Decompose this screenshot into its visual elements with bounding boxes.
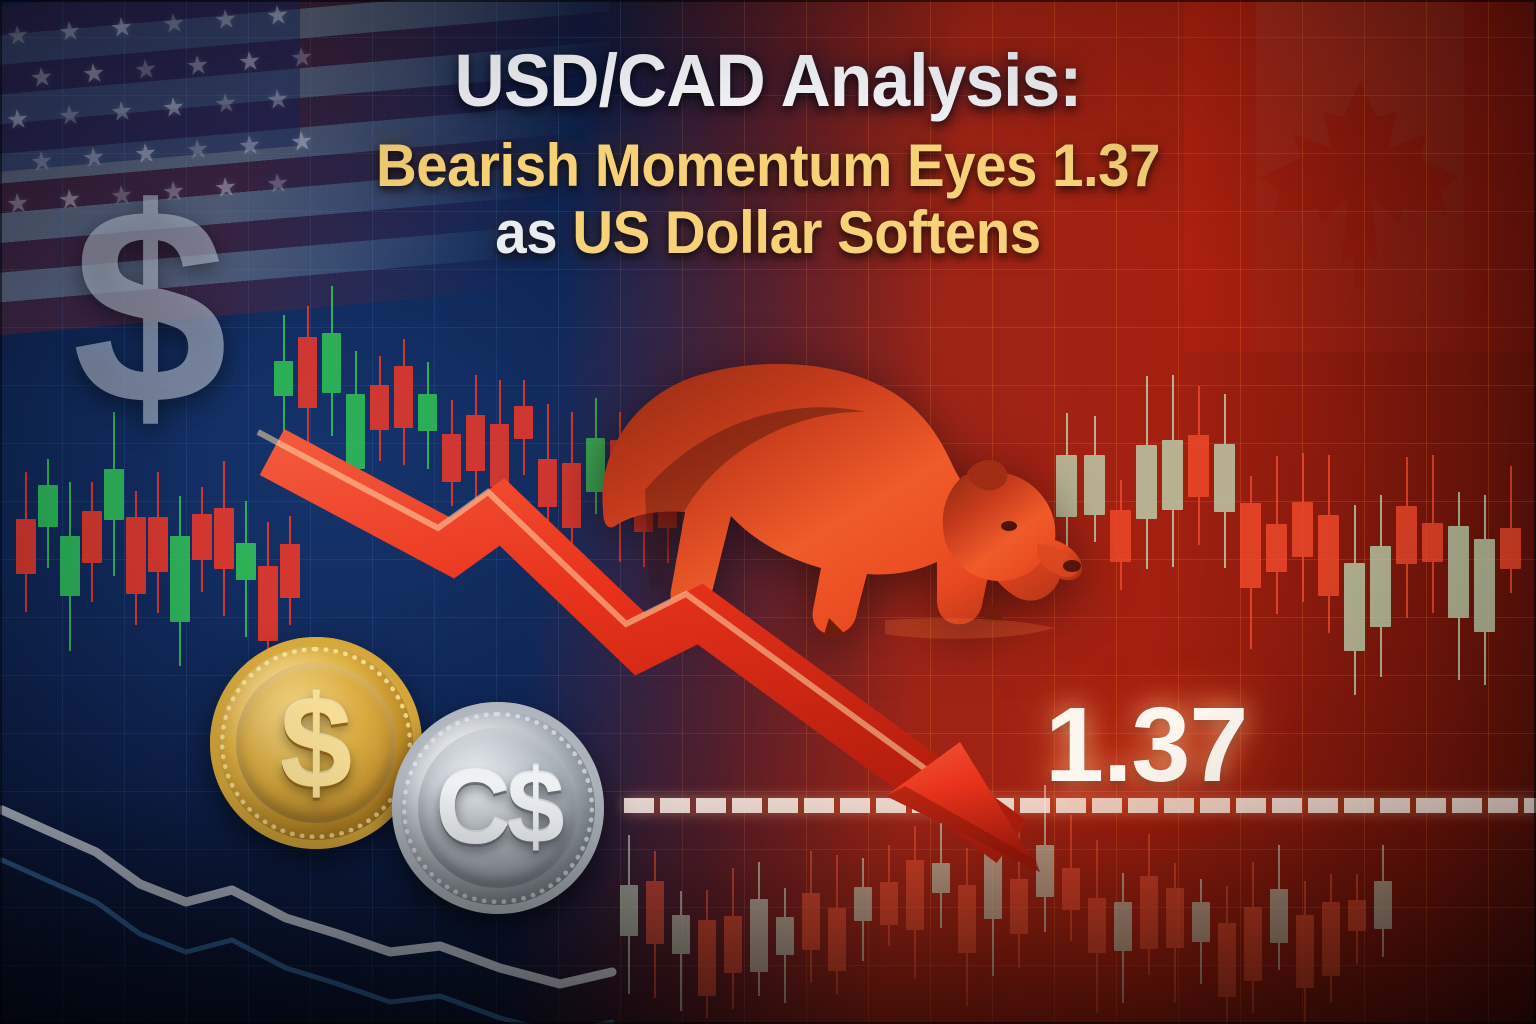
vignette [0, 0, 1536, 1024]
forex-analysis-banner: ★★★★★★★★★★★★★★★★★★★★★★★★★★★★★★ $ [0, 0, 1536, 1024]
